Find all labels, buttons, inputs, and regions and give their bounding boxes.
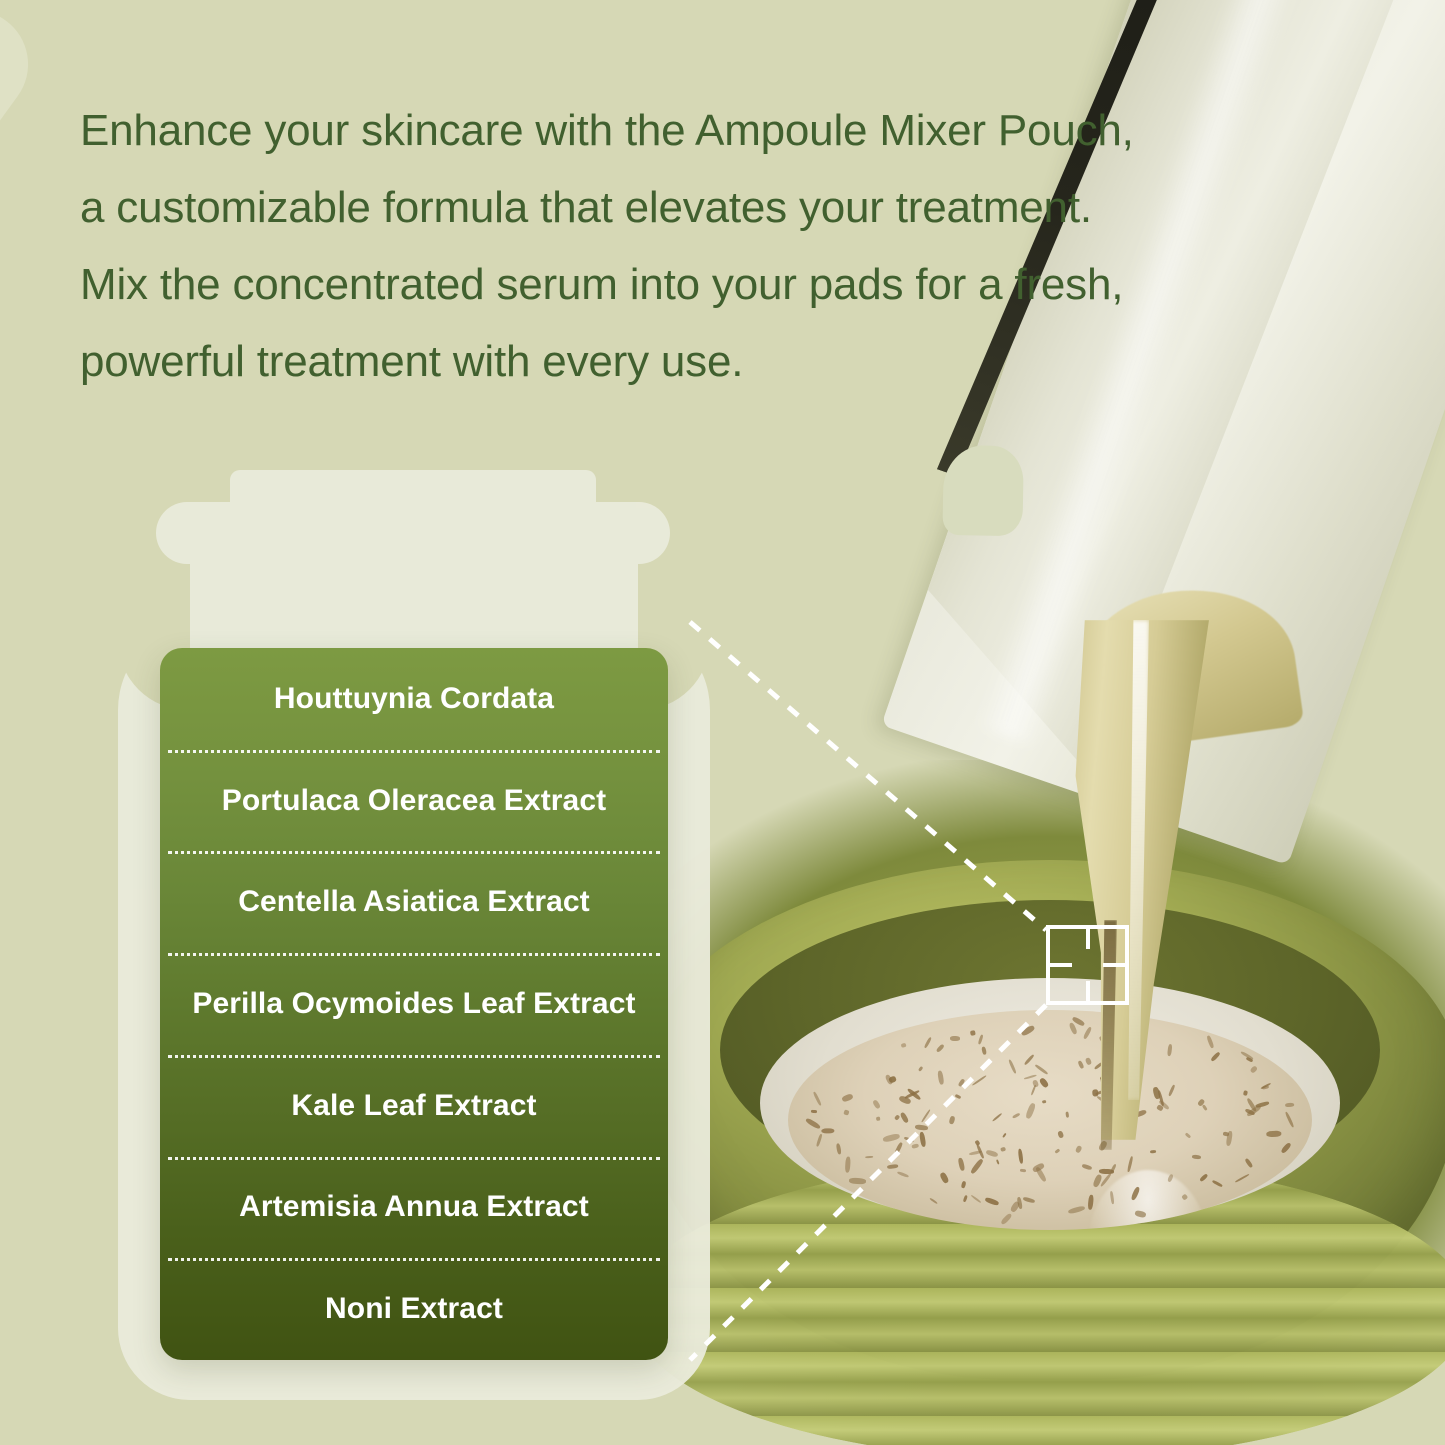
serum-fleck — [1192, 1155, 1202, 1160]
serum-fleck — [900, 1111, 910, 1123]
serum-fleck — [972, 1075, 987, 1086]
serum-fleck — [938, 1070, 945, 1084]
serum-fleck — [963, 1195, 968, 1202]
serum-fleck — [929, 1197, 938, 1204]
serum-fleck — [1235, 1173, 1250, 1183]
serum-fleck — [1087, 1194, 1093, 1210]
serum-fleck — [915, 1124, 928, 1130]
serum-fleck — [1280, 1141, 1292, 1154]
serum-fleck — [845, 1157, 851, 1173]
serum-fleck — [882, 1133, 900, 1143]
serum-fleck — [835, 1143, 841, 1155]
serum-pour-stream — [1025, 620, 1255, 1140]
ingredient-list-card: Houttuynia CordataPortulaca Oleracea Ext… — [160, 648, 668, 1360]
serum-fleck — [971, 1194, 982, 1203]
serum-fleck — [1284, 1111, 1294, 1128]
ingredient-row: Centella Asiatica Extract — [160, 851, 668, 953]
serum-fleck — [918, 1065, 924, 1071]
serum-fleck — [958, 1078, 965, 1086]
pouch-pour-notch — [942, 445, 1024, 536]
viewfinder-tick-right — [1103, 963, 1125, 967]
serum-fleck — [1017, 1196, 1023, 1208]
serum-fleck — [1199, 1173, 1208, 1182]
viewfinder-tick-top — [1086, 929, 1090, 949]
serum-fleck — [1008, 1059, 1017, 1074]
serum-fleck — [887, 1164, 899, 1169]
serum-fleck — [872, 1099, 881, 1110]
serum-fleck — [992, 1112, 1003, 1122]
ingredient-label: Centella Asiatica Extract — [238, 885, 590, 919]
serum-fleck — [1285, 1103, 1294, 1108]
serum-fleck — [996, 1159, 1000, 1165]
serum-fleck — [876, 1117, 880, 1122]
viewfinder-tick-left — [1050, 963, 1072, 967]
serum-fleck — [864, 1155, 872, 1158]
ingredient-label: Kale Leaf Extract — [291, 1089, 536, 1123]
focus-viewfinder-icon — [1046, 925, 1129, 1005]
ingredient-label: Houttuynia Cordata — [274, 682, 554, 716]
serum-fleck — [813, 1092, 822, 1106]
serum-fleck — [912, 1143, 919, 1149]
serum-fleck — [805, 1118, 821, 1131]
ingredient-row: Noni Extract — [160, 1258, 668, 1360]
serum-fleck — [978, 1034, 984, 1044]
serum-fleck — [975, 1139, 981, 1145]
serum-fleck — [1082, 1164, 1093, 1170]
ingredient-label: Portulaca Oleracea Extract — [222, 784, 606, 818]
serum-fleck — [1068, 1205, 1086, 1215]
serum-fleck — [1002, 1133, 1007, 1138]
product-infographic: Enhance your skincare with the Ampoule M… — [0, 0, 1445, 1445]
serum-fleck — [1262, 1085, 1269, 1090]
serum-fleck — [821, 1128, 834, 1134]
serum-fleck — [1023, 1196, 1035, 1203]
ingredient-row: Perilla Ocymoides Leaf Extract — [160, 953, 668, 1055]
serum-fleck — [894, 1142, 903, 1156]
ingredient-label: Noni Extract — [325, 1292, 503, 1326]
serum-fleck — [984, 1197, 999, 1206]
serum-fleck — [970, 1030, 976, 1036]
serum-fleck — [1212, 1179, 1222, 1186]
serum-fleck — [1266, 1131, 1282, 1138]
serum-fleck — [900, 1042, 906, 1048]
page-headline: Enhance your skincare with the Ampoule M… — [80, 92, 1400, 400]
serum-fleck — [939, 1172, 949, 1184]
serum-fleck — [1018, 1149, 1024, 1164]
serum-fleck — [843, 1109, 849, 1115]
serum-fleck — [1255, 1102, 1270, 1109]
serum-fleck — [1100, 1172, 1112, 1186]
serum-fleck — [1150, 1150, 1156, 1154]
ingredient-label: Artemisia Annua Extract — [239, 1190, 589, 1224]
viewfinder-tick-bottom — [1086, 981, 1090, 1001]
serum-fleck — [1075, 1145, 1083, 1154]
serum-fleck — [1245, 1158, 1254, 1168]
serum-fleck — [981, 1046, 987, 1055]
serum-fleck — [950, 1036, 961, 1041]
ingredient-row: Portulaca Oleracea Extract — [160, 750, 668, 852]
serum-fleck — [1000, 1147, 1006, 1152]
serum-fleck — [811, 1110, 817, 1113]
serum-fleck — [923, 1037, 931, 1049]
ingredient-row: Houttuynia Cordata — [160, 648, 668, 750]
serum-fleck — [1055, 1149, 1061, 1154]
serum-fleck — [936, 1043, 945, 1052]
serum-fleck — [961, 1181, 966, 1189]
serum-fleck — [949, 1116, 956, 1125]
ingredient-label: Perilla Ocymoides Leaf Extract — [192, 987, 635, 1021]
ingredient-row: Kale Leaf Extract — [160, 1055, 668, 1157]
serum-fleck — [986, 1149, 999, 1157]
serum-fleck — [921, 1109, 931, 1123]
serum-fleck — [1012, 1113, 1021, 1120]
serum-fleck — [817, 1134, 824, 1147]
serum-fleck — [970, 1158, 984, 1174]
serum-fleck — [904, 1136, 914, 1142]
serum-fleck — [897, 1171, 909, 1178]
serum-fleck — [1020, 1169, 1026, 1173]
jar-silhouette-neck — [190, 550, 638, 660]
serum-fleck — [958, 1158, 966, 1172]
serum-fleck — [955, 1094, 962, 1099]
jar-silhouette-lid — [230, 470, 596, 516]
serum-fleck — [1000, 1212, 1013, 1225]
serum-fleck — [1127, 1156, 1134, 1173]
ingredient-row: Artemisia Annua Extract — [160, 1157, 668, 1259]
serum-fleck — [849, 1177, 866, 1184]
serum-fleck — [841, 1093, 853, 1102]
serum-fleck — [919, 1131, 927, 1147]
